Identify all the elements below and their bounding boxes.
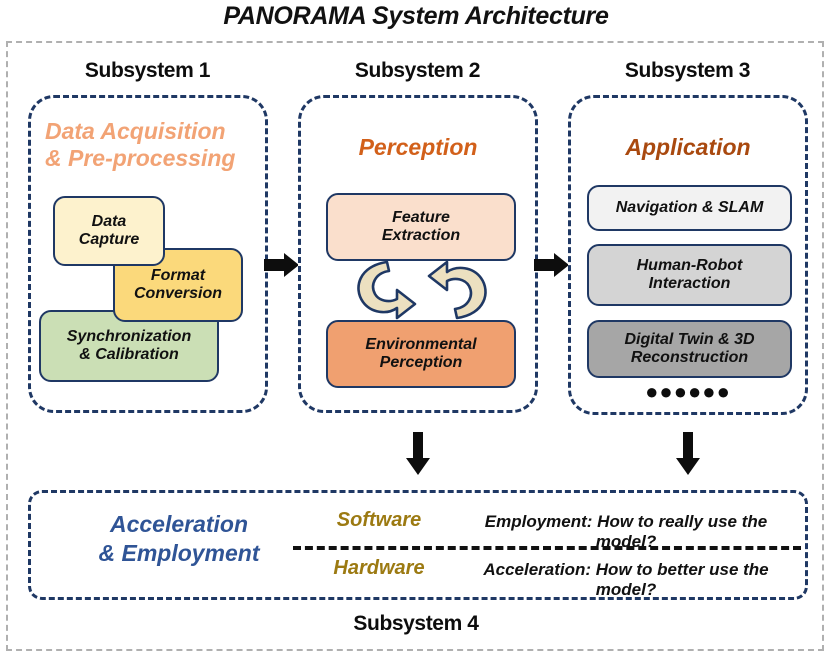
- subsystem-1-heading: Data Acquisition& Pre-processing: [31, 118, 265, 171]
- subsystem-label-4: Subsystem 4: [0, 612, 832, 636]
- down-arrow-icon: [405, 432, 431, 476]
- node-data-capture[interactable]: DataCapture: [53, 196, 165, 266]
- node-human-robot-interaction[interactable]: Human-RobotInteraction: [587, 244, 792, 306]
- subsystem-1-panel: Data Acquisition& Pre-processing DataCap…: [28, 95, 268, 413]
- node-navigation-slam[interactable]: Navigation & SLAM: [587, 185, 792, 231]
- node-feature-extraction[interactable]: FeatureExtraction: [326, 193, 516, 261]
- subsystem-2-panel: Perception FeatureExtraction Environment…: [298, 95, 538, 413]
- page-title: PANORAMA System Architecture: [0, 2, 832, 31]
- row-divider: [293, 546, 801, 550]
- subsystem-3-panel: Application Navigation & SLAM Human-Robo…: [568, 95, 808, 415]
- right-arrow-icon: [534, 252, 570, 278]
- right-arrow-icon: [264, 252, 300, 278]
- row-description-hardware: Acceleration: How to better use the mode…: [455, 560, 797, 600]
- row-kind-hardware: Hardware: [309, 557, 449, 580]
- ellipsis-indicator: ●●●●●●: [571, 379, 805, 405]
- acceleration-employment-title: Acceleration& Employment: [59, 510, 299, 568]
- node-environmental-perception[interactable]: EnvironmentalPerception: [326, 320, 516, 388]
- down-arrow-icon: [675, 432, 701, 476]
- subsystem-2-heading: Perception: [301, 134, 535, 161]
- node-digital-twin-reconstruction[interactable]: Digital Twin & 3DReconstruction: [587, 320, 792, 378]
- bidirectional-cycle-arrows-icon: [349, 258, 495, 322]
- subsystem-3-heading: Application: [571, 134, 805, 161]
- row-kind-software: Software: [309, 509, 449, 532]
- subsystem-4-panel: Acceleration& Employment Software Employ…: [28, 490, 808, 600]
- subsystem-label-3: Subsystem 3: [570, 59, 805, 83]
- subsystem-label-2: Subsystem 2: [300, 59, 535, 83]
- subsystem-label-1: Subsystem 1: [30, 59, 265, 83]
